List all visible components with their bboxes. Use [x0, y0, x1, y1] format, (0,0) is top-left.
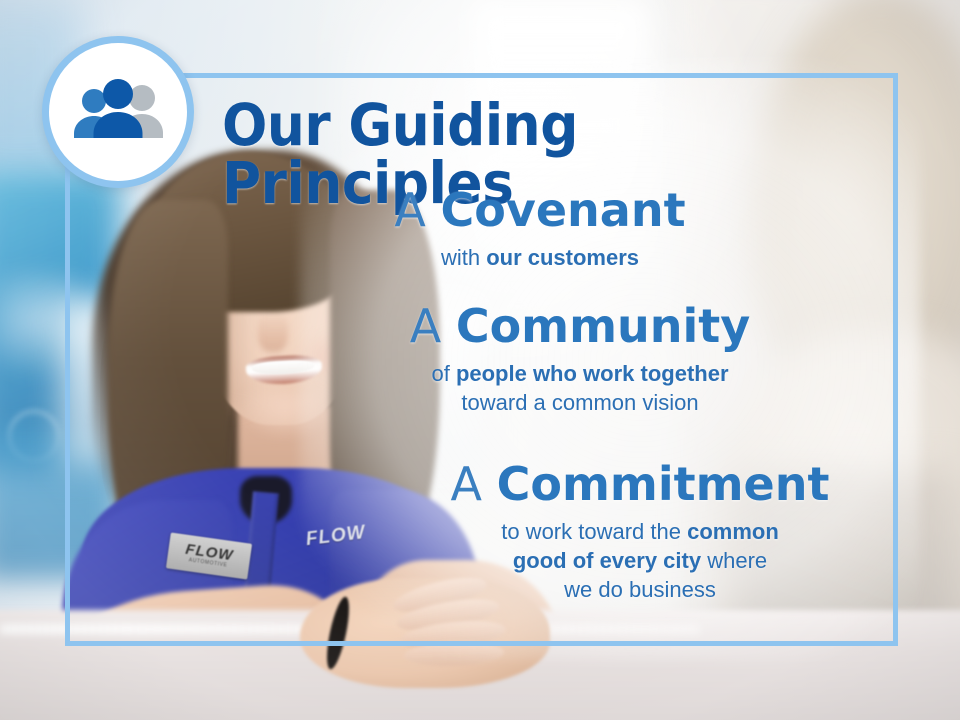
principle-subtext-line: of people who work together	[340, 359, 820, 388]
woman-chin	[240, 392, 330, 438]
subtext-prefix: to work toward the	[501, 519, 687, 544]
subtext-emphasis: people who work together	[456, 361, 729, 386]
principle-subtext-line: we do business	[400, 575, 880, 604]
subtext-emphasis: common	[687, 519, 779, 544]
principle-keyword: Community	[456, 299, 750, 353]
principle-commitment: A Commitment to work toward the common g…	[400, 460, 880, 604]
subtext-prefix: we do business	[564, 577, 716, 602]
subtext-emphasis: our customers	[486, 245, 639, 270]
principle-subtext-line: toward a common vision	[340, 388, 820, 417]
subtext-prefix: with	[441, 245, 486, 270]
principle-covenant-subtext: with our customers	[300, 243, 780, 272]
subtext-suffix: where	[701, 548, 767, 573]
people-badge	[42, 36, 194, 188]
principle-covenant-heading: A Covenant	[300, 186, 780, 235]
subtext-prefix: of	[431, 361, 455, 386]
principle-commitment-heading: A Commitment	[400, 460, 880, 509]
principle-community-heading: A Community	[340, 302, 820, 351]
principle-subtext-line: with our customers	[300, 243, 780, 272]
subtext-emphasis: good of every city	[513, 548, 701, 573]
principle-article: A	[451, 457, 497, 511]
principle-keyword: Commitment	[497, 457, 830, 511]
principle-article: A	[394, 183, 440, 237]
principle-commitment-subtext: to work toward the common good of every …	[400, 517, 880, 604]
guiding-principles-graphic: FLOW AUTOMOTIVE FLOW O	[0, 0, 960, 720]
principle-article: A	[410, 299, 456, 353]
principle-keyword: Covenant	[441, 183, 686, 237]
subtext-prefix: toward a common vision	[461, 390, 698, 415]
woman-nose	[258, 310, 288, 352]
principle-covenant: A Covenant with our customers	[300, 186, 780, 272]
principle-community-subtext: of people who work together toward a com…	[340, 359, 820, 417]
principle-subtext-line: to work toward the common	[400, 517, 880, 546]
principle-subtext-line: good of every city where	[400, 546, 880, 575]
people-group-icon	[68, 76, 168, 148]
principle-community: A Community of people who work together …	[340, 302, 820, 417]
